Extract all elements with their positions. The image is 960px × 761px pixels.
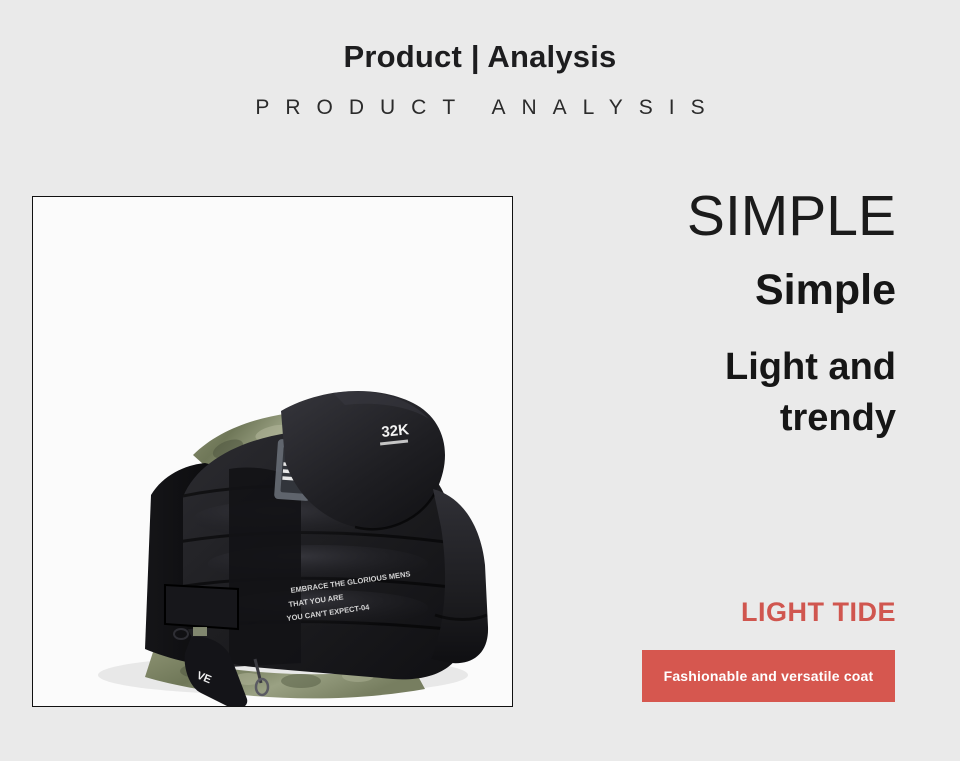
- jacket-illustration: 32K VE EMBRACE THE GLORIOUS MENS THAT YO…: [33, 197, 513, 707]
- product-image-frame: 32K VE EMBRACE THE GLORIOUS MENS THAT YO…: [32, 196, 513, 707]
- page-header: Product | Analysis PRODUCT ANALYSIS: [0, 0, 960, 119]
- promo-banner-text: Fashionable and versatile coat: [664, 668, 874, 684]
- promo-banner[interactable]: Fashionable and versatile coat: [642, 650, 895, 702]
- pocket-snap: [193, 627, 207, 636]
- page-title: Product | Analysis: [0, 0, 960, 74]
- promo-label: LIGHT TIDE: [600, 598, 896, 628]
- product-image-stage: 32K VE EMBRACE THE GLORIOUS MENS THAT YO…: [33, 197, 512, 706]
- highlight-headline: Simple: [600, 269, 896, 312]
- page-subtitle: PRODUCT ANALYSIS: [0, 74, 960, 119]
- jacket-pocket: [165, 585, 238, 629]
- svg-text:32K: 32K: [381, 421, 410, 441]
- highlight-headline-caps: SIMPLE: [600, 188, 896, 245]
- highlight-tagline: Light and trendy: [681, 342, 896, 445]
- product-highlights: SIMPLE Simple Light and trendy: [600, 188, 896, 445]
